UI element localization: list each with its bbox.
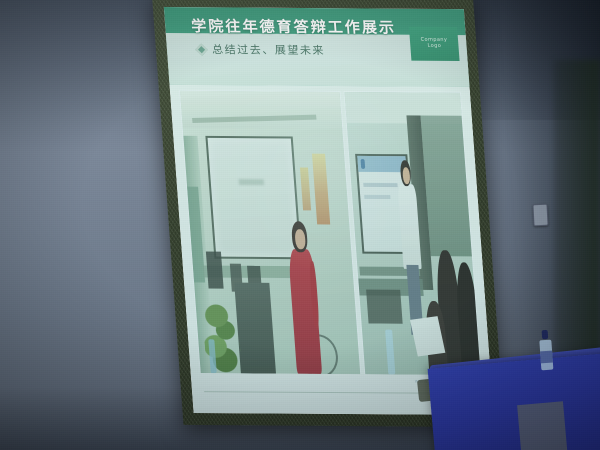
- table-front-panel: [517, 401, 569, 450]
- company-logo-placeholder: Company Logo: [409, 27, 460, 61]
- slide-body: [170, 85, 491, 375]
- photo-right-screen-icon: [360, 159, 365, 169]
- photo-left-ceiling: [180, 91, 342, 129]
- presentation-slide: 学院往年德育答辩工作展示 总结过去、展望未来 Company Logo: [164, 7, 494, 415]
- wall-switch[interactable]: [532, 204, 548, 227]
- photo-left: [180, 91, 360, 374]
- diamond-bullet-icon: [195, 43, 208, 56]
- slide-title: 学院往年德育答辩工作展示: [191, 15, 397, 37]
- slide-subtitle: 总结过去、展望未来: [211, 41, 325, 58]
- wall-far-right-curtain: [554, 60, 600, 360]
- room-scene: 学院往年德育答辩工作展示 总结过去、展望未来 Company Logo: [0, 0, 600, 450]
- photo-left-whiteboard-text: [239, 179, 264, 185]
- photo-right: [345, 92, 481, 375]
- table-drape: [428, 351, 600, 450]
- photo-right-screen-line-1: [363, 183, 398, 187]
- slide-header: 学院往年德育答辩工作展示 总结过去、展望未来 Company Logo: [164, 7, 470, 87]
- screen-surface: 学院往年德育答辩工作展示 总结过去、展望未来 Company Logo: [164, 7, 494, 415]
- photo-right-equipment: [366, 290, 403, 324]
- water-bottle-label: [540, 351, 553, 364]
- slide-subtitle-row: 总结过去、展望未来: [196, 41, 325, 58]
- photo-left-plant: [200, 277, 242, 373]
- water-bottle-cap: [542, 330, 549, 339]
- photo-right-screen-line-2: [364, 195, 391, 199]
- logo-line-2: Logo: [427, 44, 441, 50]
